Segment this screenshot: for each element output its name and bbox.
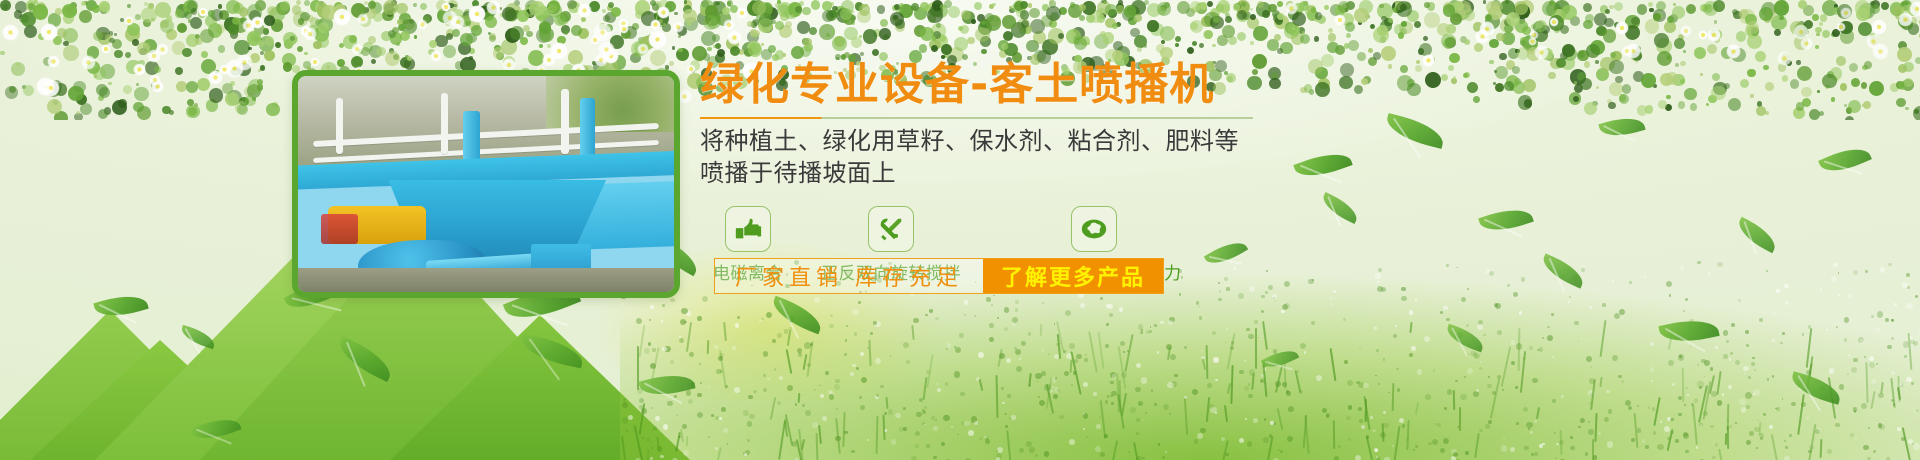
promo-banner: 绿化专业设备-客土喷播机 将种植土、绿化用草籽、保水剂、粘合剂、肥料等 喷播于待…	[0, 0, 1920, 460]
product-photo-frame	[292, 70, 680, 298]
subtitle-line-1: 将种植土、绿化用草籽、保水剂、粘合剂、肥料等	[700, 126, 1320, 158]
page-title: 绿化专业设备-客土喷播机	[700, 62, 1320, 108]
subtitle-line-2: 喷播于待播坡面上	[700, 158, 1320, 190]
tools-icon	[868, 206, 914, 252]
cta-tagline: 厂家直销 库存充足	[715, 259, 983, 293]
thumbs-up-icon	[725, 206, 771, 252]
cta-bar: 厂家直销 库存充足 了解更多产品	[714, 258, 1164, 294]
subtitle: 将种植土、绿化用草籽、保水剂、粘合剂、肥料等 喷播于待播坡面上	[700, 126, 1320, 189]
engine-gear-icon	[1071, 206, 1117, 252]
title-divider	[700, 117, 1253, 119]
banner-content: 绿化专业设备-客土喷播机 将种植土、绿化用草籽、保水剂、粘合剂、肥料等 喷播于待…	[700, 62, 1320, 284]
learn-more-button[interactable]: 了解更多产品	[983, 259, 1163, 293]
product-photo	[298, 76, 674, 292]
